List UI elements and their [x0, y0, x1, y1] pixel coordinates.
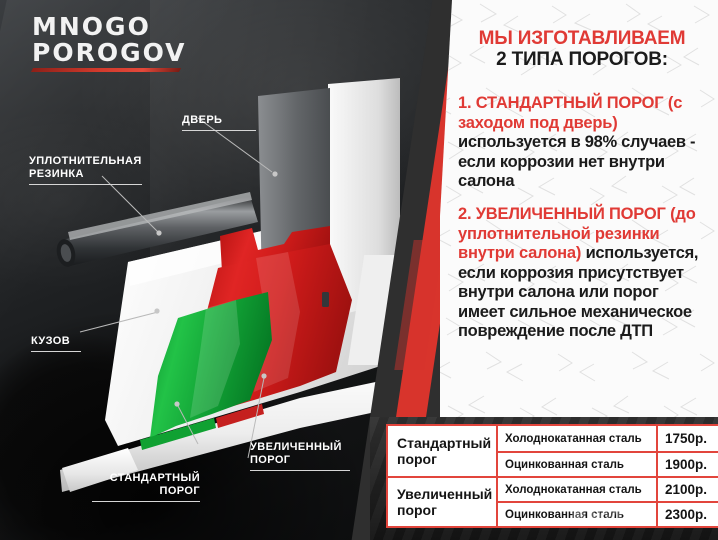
price-material-2: Оцинкованная сталь [498, 451, 658, 476]
label-extended-sill: УВЕЛИЧЕННЫЙ ПОРОГ [250, 428, 350, 484]
headline-line-1: МЫ ИЗГОТАВЛИВАЕМ [452, 28, 712, 49]
price-material-4: Оцинкованная сталь [498, 501, 658, 526]
block2-title: 2. УВЕЛИЧЕННЫЙ ПОРОГ [458, 205, 666, 223]
block1-body: используется в 98% случаев - если корроз… [458, 133, 695, 190]
brand-logo-swoosh [31, 68, 181, 72]
price-group-extended: Увеличенный порог [388, 476, 498, 526]
price-value-2: 1900р. [658, 451, 718, 476]
price-material-1: Холоднокатанная сталь [498, 426, 658, 451]
price-value-1: 1750р. [658, 426, 718, 451]
price-material-3: Холоднокатанная сталь [498, 476, 658, 501]
price-table: Стандартный порог Холоднокатанная сталь … [386, 424, 718, 528]
headline-line-2: 2 ТИПА ПОРОГОВ: [452, 49, 712, 70]
brand-logo[interactable]: MNOGO POROGOV [32, 14, 197, 70]
label-seal: УПЛОТНИТЕЛЬНАЯ РЕЗИНКА [29, 142, 142, 198]
door-latch-detail [322, 292, 329, 307]
poster-canvas: ДВЕРЬ УПЛОТНИТЕЛЬНАЯ РЕЗИНКА КУЗОВ СТАНД… [0, 0, 718, 540]
price-value-3: 2100р. [658, 476, 718, 501]
info-headline: МЫ ИЗГОТАВЛИВАЕМ 2 ТИПА ПОРОГОВ: [452, 28, 712, 70]
label-door: ДВЕРЬ [182, 101, 256, 144]
label-body: КУЗОВ [31, 322, 81, 365]
label-standard-sill: СТАНДАРТНЫЙ ПОРОГ [92, 459, 200, 515]
info-block-extended: 2. УВЕЛИЧЕННЫЙ ПОРОГ (до уплотнительной … [458, 205, 706, 342]
info-block-standard: 1. СТАНДАРТНЫЙ ПОРОГ (с заходом под двер… [458, 94, 706, 192]
brand-logo-line1: MNOGO [32, 14, 197, 39]
brand-logo-line2: POROGOV [32, 40, 197, 65]
price-value-4: 2300р. [658, 501, 718, 526]
price-group-standard: Стандартный порог [388, 426, 498, 476]
block1-title: 1. СТАНДАРТНЫЙ ПОРОГ [458, 94, 663, 112]
